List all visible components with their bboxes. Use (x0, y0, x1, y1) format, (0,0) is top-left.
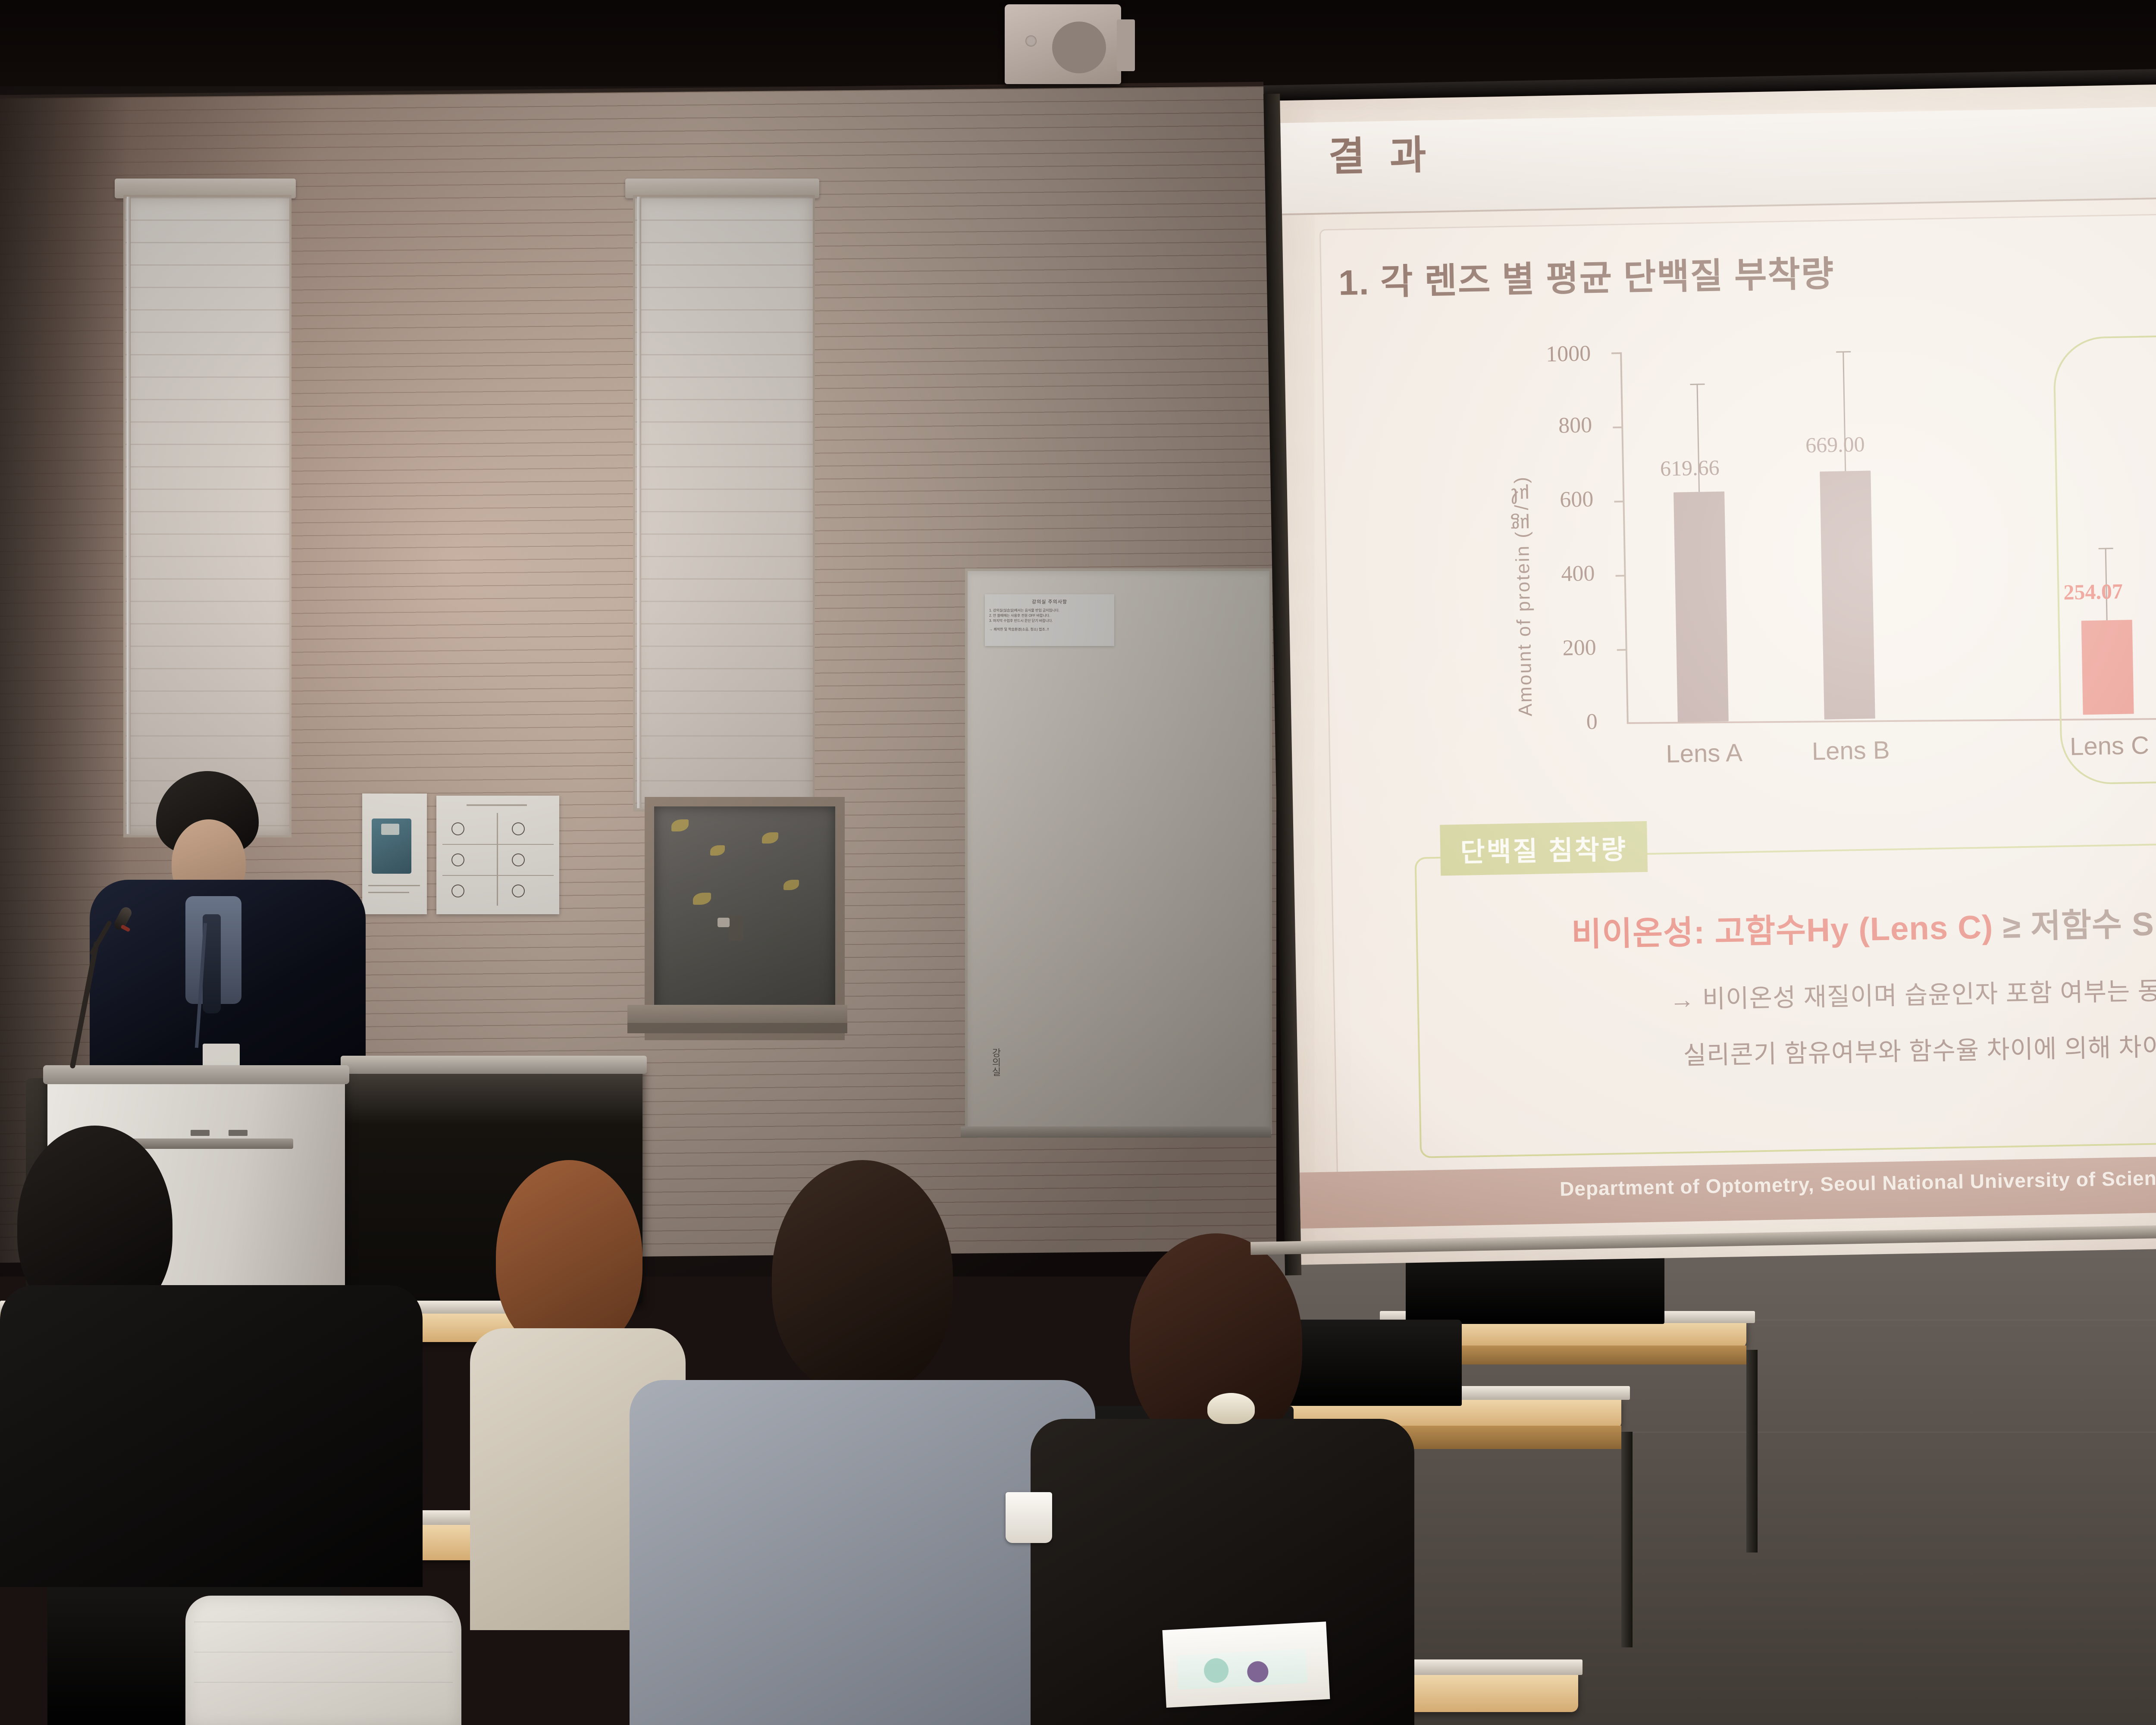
prohibition-icon-1 (451, 822, 464, 835)
y-tick-0: 0 (1498, 709, 1598, 736)
conclusion-box: 비이온성: 고함수Hy (Lens C) ≥ 저함수 SiHy (Lens D)… (1414, 837, 2156, 1158)
open-window-glass (645, 797, 845, 1040)
lecture-hall-photo: 강의실 주의사항 1. 강의실(실습실)에서는 음식물 반입 금지입니다. 2.… (0, 0, 2156, 1725)
notice-line-4: → 쾌적한 및 학습환경(소음, 청소) 협조..!! (989, 627, 1110, 632)
hair-clip-icon (1207, 1393, 1255, 1424)
x-category-lens-b: Lens B (1799, 735, 1903, 766)
window-left (123, 195, 291, 837)
booklet-graphic (1177, 1649, 1308, 1690)
x-category-lens-a: Lens A (1652, 738, 1756, 768)
slide-header-title: 결 과 (1328, 123, 1433, 182)
window-latch-handle[interactable] (729, 915, 743, 941)
audience-head-3 (772, 1160, 953, 1393)
paper-cup[interactable] (1006, 1492, 1052, 1543)
desk-leg-right-2 (1621, 1432, 1633, 1647)
ceiling-speaker-icon (1005, 4, 1121, 84)
prohibition-icon-5 (451, 884, 464, 897)
conclusion-rest-text: ≥ 저함수 SiHy (Lens D) (1993, 902, 2156, 945)
prohibition-icon-4 (512, 853, 525, 866)
notice-line-2: 2. 안 쓸때에는 사용후 전원 OFF 바랍니다. (989, 613, 1110, 618)
prohibition-icon-3 (451, 853, 464, 866)
whiteboard-scribble: 강의실 (985, 1048, 1003, 1078)
prohibition-icon-6 (512, 884, 525, 897)
podium-button-2[interactable] (229, 1130, 248, 1136)
blind-rail-right (637, 197, 641, 808)
bar-lens-c (2081, 620, 2134, 715)
y-tick-600: 600 (1494, 486, 1594, 514)
y-tick-200: 200 (1497, 635, 1596, 662)
conclusion-sub-line-1: → 비이온성 재질이며 습윤인자 포함 여부는 동일하지만 (1419, 964, 2156, 1020)
audience-torso-1 (0, 1285, 423, 1587)
av-console-top (341, 1056, 647, 1074)
whiteboard-marker-tray (961, 1126, 1271, 1138)
x-category-lens-c: Lens C (2057, 731, 2156, 761)
blind-rail-left (127, 197, 131, 834)
notice-line-3: 3. 마지막 수업후 반드시 문단 닫기 바랍니다. (989, 618, 1110, 624)
conclusion-tab-label: 단백질 침착량 (1460, 828, 1628, 869)
notice-title: 강의실 주의사항 (989, 598, 1110, 605)
bar-value-lens-b: 669.00 (1805, 432, 1865, 458)
conclusion-sub-line-2: 실리콘기 함유여부와 함수율 차이에 의해 차이가 있음 (1420, 1020, 2156, 1076)
audience-head-2 (496, 1160, 642, 1354)
draped-puffer-coat (185, 1596, 461, 1725)
bar-lens-b (1820, 470, 1875, 719)
desk-leg-right-1 (1746, 1350, 1758, 1552)
window-right (633, 195, 815, 812)
lectern-device-icon (372, 819, 411, 874)
window-sill-underside (627, 1023, 847, 1033)
whiteboard (965, 568, 1272, 1134)
y-tick-400: 400 (1495, 561, 1595, 588)
projection-screen: 결 과 1. 각 렌즈 별 평균 단백질 부착량 Amount of prote… (1263, 70, 2156, 1276)
lens-cd-highlight-outline (2053, 332, 2156, 785)
y-tick-800: 800 (1493, 412, 1592, 439)
equipment-poster (362, 793, 427, 914)
y-tick-1000: 1000 (1492, 341, 1591, 368)
notice-line-1: 1. 강의실(실습실)에서는 음식물 반입 금지입니다. (989, 608, 1110, 613)
conclusion-tab: 단백질 침착량 (1440, 821, 1648, 876)
bar-value-lens-c: 254.07 (2063, 579, 2123, 605)
bar-value-lens-a: 619.66 (1660, 455, 1720, 481)
conclusion-main-line: 비이온성: 고함수Hy (Lens C) ≥ 저함수 SiHy (Lens D) (1417, 891, 2156, 958)
presentation-slide: 결 과 1. 각 렌즈 별 평균 단백질 부착량 Amount of prote… (1280, 77, 2156, 1265)
instructions-poster (436, 796, 559, 914)
audience-torso-3 (630, 1380, 1095, 1725)
podium-button-1[interactable] (191, 1130, 210, 1136)
chart-plot-area: 619.66 669.00 254.07 198.95 (1620, 340, 2156, 723)
slide-section-title: 1. 각 렌즈 별 평균 단백질 부착량 (1338, 245, 1835, 305)
prohibition-icon-2 (512, 822, 525, 835)
speaker-bracket (1117, 19, 1135, 71)
conclusion-highlight-text: 비이온성: 고함수Hy (Lens C) (1571, 909, 1994, 953)
notice-sign: 강의실 주의사항 1. 강의실(실습실)에서는 음식물 반입 금지입니다. 2.… (985, 594, 1114, 646)
podium-top-surface (43, 1065, 349, 1084)
booklet-on-desk[interactable] (1163, 1621, 1330, 1708)
protein-bar-chart: Amount of protein (㎍/㎕) 1000 800 600 400… (1513, 332, 2156, 790)
bar-lens-a (1673, 492, 1729, 722)
